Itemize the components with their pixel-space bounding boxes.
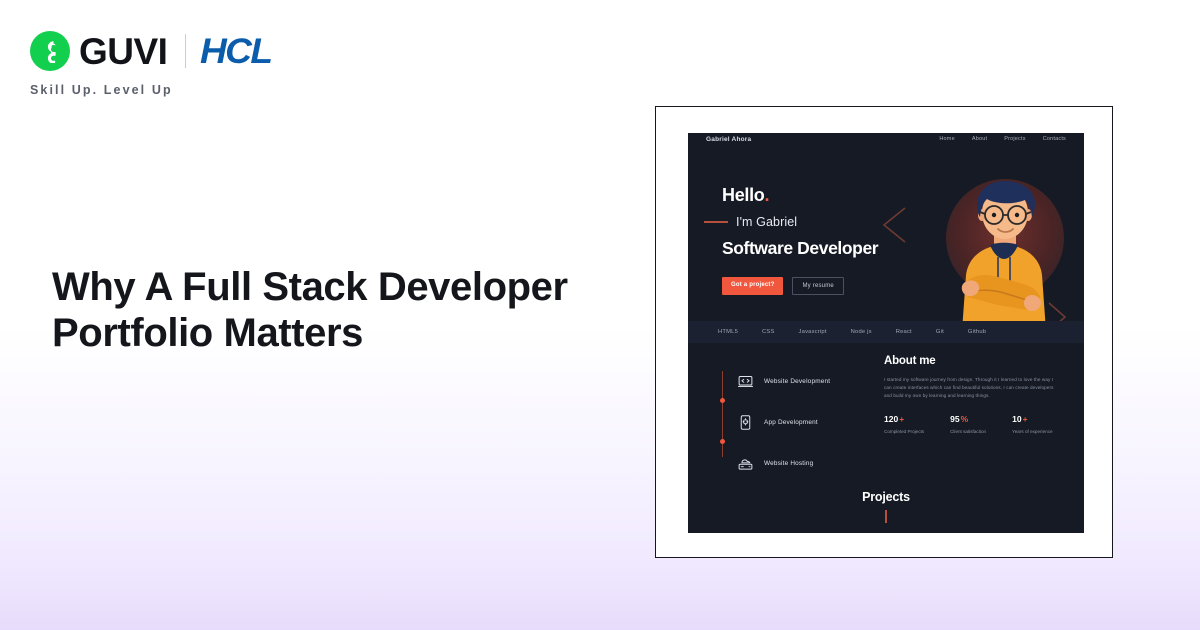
- skill-css: CSS: [762, 329, 775, 335]
- hero-name: I'm Gabriel: [736, 215, 797, 229]
- nav-item-projects[interactable]: Projects: [1004, 136, 1025, 142]
- stat-years-experience: 10+ Years of experience: [1012, 414, 1052, 435]
- skill-html5: HTML5: [718, 329, 738, 335]
- hero-buttons: Got a project? My resume: [722, 277, 878, 295]
- projects-accent-rule: [885, 510, 886, 523]
- stat-label: Client satisfaction: [950, 428, 986, 435]
- mobile-gear-icon: [737, 414, 754, 431]
- stat-label: Years of experience: [1012, 428, 1052, 435]
- portfolio-logo[interactable]: Gabriel Ahora: [706, 136, 751, 143]
- stat-symbol: +: [899, 414, 904, 424]
- laptop-code-icon: [737, 373, 754, 390]
- skill-react: React: [896, 329, 912, 335]
- service-item-website-development[interactable]: Website Development: [722, 365, 872, 397]
- hero-role: Software Developer: [722, 238, 878, 259]
- projects-section: Projects: [688, 490, 1084, 523]
- stat-symbol: +: [1023, 414, 1028, 424]
- chevron-left-icon: [881, 206, 907, 244]
- service-label: Website Development: [764, 378, 830, 385]
- server-cloud-icon: [737, 455, 754, 472]
- got-a-project-button[interactable]: Got a project?: [722, 277, 783, 295]
- my-resume-button[interactable]: My resume: [792, 277, 843, 295]
- brand-tagline: Skill Up. Level Up: [30, 83, 270, 97]
- skill-nodejs: Node js: [851, 329, 872, 335]
- stat-label: Completed Projects: [884, 428, 924, 435]
- nav-item-about[interactable]: About: [972, 136, 987, 142]
- guvi-wordmark: GUVI: [79, 33, 167, 70]
- services-list: Website Development App Development Webs…: [722, 365, 872, 488]
- about-title: About me: [884, 355, 1056, 367]
- service-item-website-hosting[interactable]: Website Hosting: [722, 447, 872, 479]
- hero-greeting: Hello.: [722, 185, 878, 206]
- stat-number: 120: [884, 414, 898, 424]
- portfolio-nav-links: Home About Projects Contacts: [939, 136, 1066, 142]
- brand-divider: [185, 34, 186, 68]
- stat-number: 10: [1012, 414, 1021, 424]
- stat-value: 10+: [1012, 414, 1052, 424]
- hero-name-row: I'm Gabriel: [722, 215, 878, 229]
- stat-symbol: %: [961, 414, 969, 424]
- guvi-logo-icon: [30, 31, 70, 71]
- service-item-app-development[interactable]: App Development: [722, 406, 872, 438]
- avatar: [932, 155, 1080, 345]
- stat-completed-projects: 120+ Completed Projects: [884, 414, 924, 435]
- portfolio-navbar: Gabriel Ahora Home About Projects Contac…: [688, 133, 1084, 149]
- screenshot-frame: Gabriel Ahora Home About Projects Contac…: [655, 106, 1113, 558]
- hero-greeting-text: Hello: [722, 185, 765, 205]
- projects-title: Projects: [688, 490, 1084, 504]
- service-label: App Development: [764, 419, 818, 426]
- skill-javascript: Javascript: [799, 329, 827, 335]
- portfolio-screenshot: Gabriel Ahora Home About Projects Contac…: [688, 133, 1084, 533]
- services-dot-2: [720, 439, 725, 444]
- hero-greeting-dot: .: [765, 185, 770, 205]
- stat-value: 95%: [950, 414, 986, 424]
- page-title: Why A Full Stack Developer Portfolio Mat…: [52, 264, 652, 356]
- services-dot-1: [720, 398, 725, 403]
- stat-client-satisfaction: 95% Client satisfaction: [950, 414, 986, 435]
- stat-value: 120+: [884, 414, 924, 424]
- hcl-wordmark: HCL: [200, 34, 271, 69]
- about-section: About me I started my software journey f…: [884, 355, 1056, 435]
- services-timeline: [722, 371, 723, 457]
- brand-row: GUVI HCL: [30, 28, 270, 74]
- nav-item-contacts[interactable]: Contacts: [1043, 136, 1066, 142]
- skill-github: Github: [968, 329, 986, 335]
- stat-number: 95: [950, 414, 959, 424]
- hero-section: Hello. I'm Gabriel Software Developer Go…: [688, 149, 1084, 339]
- about-body: I started my software journey from desig…: [884, 376, 1056, 400]
- stats-row: 120+ Completed Projects 95% Client satis…: [884, 414, 1056, 435]
- hero-text-block: Hello. I'm Gabriel Software Developer Go…: [722, 185, 878, 295]
- nav-item-home[interactable]: Home: [939, 136, 954, 142]
- skill-git: Git: [936, 329, 944, 335]
- skills-strip: HTML5 CSS Javascript Node js React Git G…: [688, 321, 1084, 343]
- brand-lockup: GUVI HCL Skill Up. Level Up: [30, 28, 270, 97]
- service-label: Website Hosting: [764, 460, 813, 467]
- hero-accent-rule: [704, 221, 728, 223]
